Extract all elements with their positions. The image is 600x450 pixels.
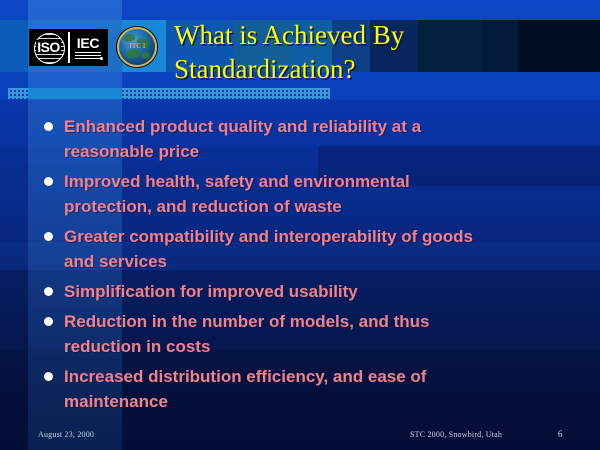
bullet-text: Increased distribution efficiency, and e… <box>64 364 496 414</box>
decorative-rule-highlight <box>28 88 122 99</box>
globe-badge-icon: JTC 1 <box>117 27 157 67</box>
bullet-dot-icon <box>44 317 53 326</box>
iec-dot-icon <box>100 57 103 60</box>
globe-landmass <box>126 49 140 58</box>
header-left-filler <box>0 0 28 20</box>
presentation-slide: ISO IEC JTC 1 What is Achieved By Standa… <box>0 0 600 450</box>
bullet-item: Improved health, safety and environmenta… <box>44 169 554 219</box>
bullet-text: Simplification for improved usability <box>64 279 358 304</box>
footer-page-number: 6 <box>558 429 563 439</box>
bullet-item: Enhanced product quality and reliability… <box>44 114 554 164</box>
iec-label: IEC <box>77 36 99 51</box>
iso-label: ISO <box>36 40 61 54</box>
bullet-dot-icon <box>44 287 53 296</box>
slide-title-line-1: What is Achieved By <box>174 18 574 52</box>
bullet-dot-icon <box>44 177 53 186</box>
logo-row: ISO IEC JTC 1 <box>29 27 157 67</box>
bullet-dot-icon <box>44 372 53 381</box>
bullet-dot-icon <box>44 122 53 131</box>
globe-badge-label: JTC 1 <box>119 42 155 50</box>
bullet-dot-icon <box>44 232 53 241</box>
bullet-text: Enhanced product quality and reliability… <box>64 114 496 164</box>
iso-mark: ISO <box>29 29 68 66</box>
bullet-text: Greater compatibility and interoperabili… <box>64 224 496 274</box>
bullet-item: Increased distribution efficiency, and e… <box>44 364 554 414</box>
bullet-item: Simplification for improved usability <box>44 279 554 304</box>
bullet-list: Enhanced product quality and reliability… <box>44 114 554 419</box>
bullet-text: Reduction in the number of models, and t… <box>64 309 496 359</box>
footer-venue: STC 2000, Snowbird, Utah <box>410 430 502 439</box>
bullet-item: Reduction in the number of models, and t… <box>44 309 554 359</box>
iec-mark: IEC <box>70 29 106 66</box>
globe-landmass <box>141 52 150 59</box>
footer-date: August 23, 2000 <box>38 430 94 439</box>
globe-landmass <box>124 34 135 42</box>
bullet-item: Greater compatibility and interoperabili… <box>44 224 554 274</box>
bullet-text: Improved health, safety and environmenta… <box>64 169 496 219</box>
iec-lines-icon <box>75 52 101 59</box>
slide-title-line-2: Standardization? <box>174 52 574 86</box>
slide-title: What is Achieved By Standardization? <box>174 18 574 86</box>
iso-iec-logo-icon: ISO IEC <box>29 29 108 66</box>
